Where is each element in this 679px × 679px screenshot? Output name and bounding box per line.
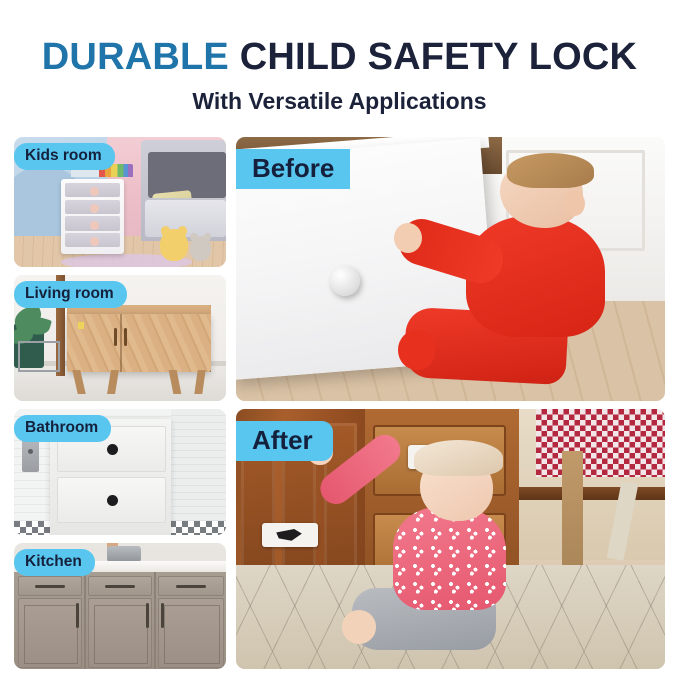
- baby-red-onesie: [451, 158, 640, 390]
- kids-dresser: [61, 179, 125, 254]
- badge-kids-room: Kids room: [14, 143, 115, 170]
- teddy-bear-grey: [190, 236, 211, 261]
- panel-kids-room: Kids room: [14, 137, 226, 267]
- panel-kitchen: Kitchen: [14, 543, 226, 669]
- kitchen-cabinets: [14, 572, 226, 669]
- wooden-sideboard: [67, 314, 211, 372]
- product-infographic: DURABLE CHILD SAFETY LOCK With Versatile…: [0, 0, 679, 679]
- page-subtitle: With Versatile Applications: [0, 90, 679, 113]
- panel-before: Before: [236, 137, 665, 401]
- badge-living-room: Living room: [14, 281, 127, 308]
- panel-grid: Kids room Living room: [0, 128, 679, 679]
- title-accent-word: DURABLE: [42, 36, 229, 78]
- gingham-tablecloth: [536, 409, 665, 477]
- badge-kitchen: Kitchen: [14, 549, 95, 576]
- badge-before: Before: [236, 149, 350, 189]
- page-title: DURABLE CHILD SAFETY LOCK: [0, 38, 679, 76]
- safety-latch-edge: [262, 523, 318, 546]
- baby-pink-top: [369, 440, 541, 664]
- badge-bathroom: Bathroom: [14, 415, 111, 442]
- teddy-bear-yellow: [160, 229, 188, 260]
- panel-after: After: [236, 409, 665, 669]
- badge-after: After: [236, 421, 333, 461]
- title-main-text: CHILD SAFETY LOCK: [240, 36, 637, 78]
- panel-living-room: Living room: [14, 275, 226, 401]
- header: DURABLE CHILD SAFETY LOCK With Versatile…: [0, 0, 679, 113]
- panel-bathroom: Bathroom: [14, 409, 226, 535]
